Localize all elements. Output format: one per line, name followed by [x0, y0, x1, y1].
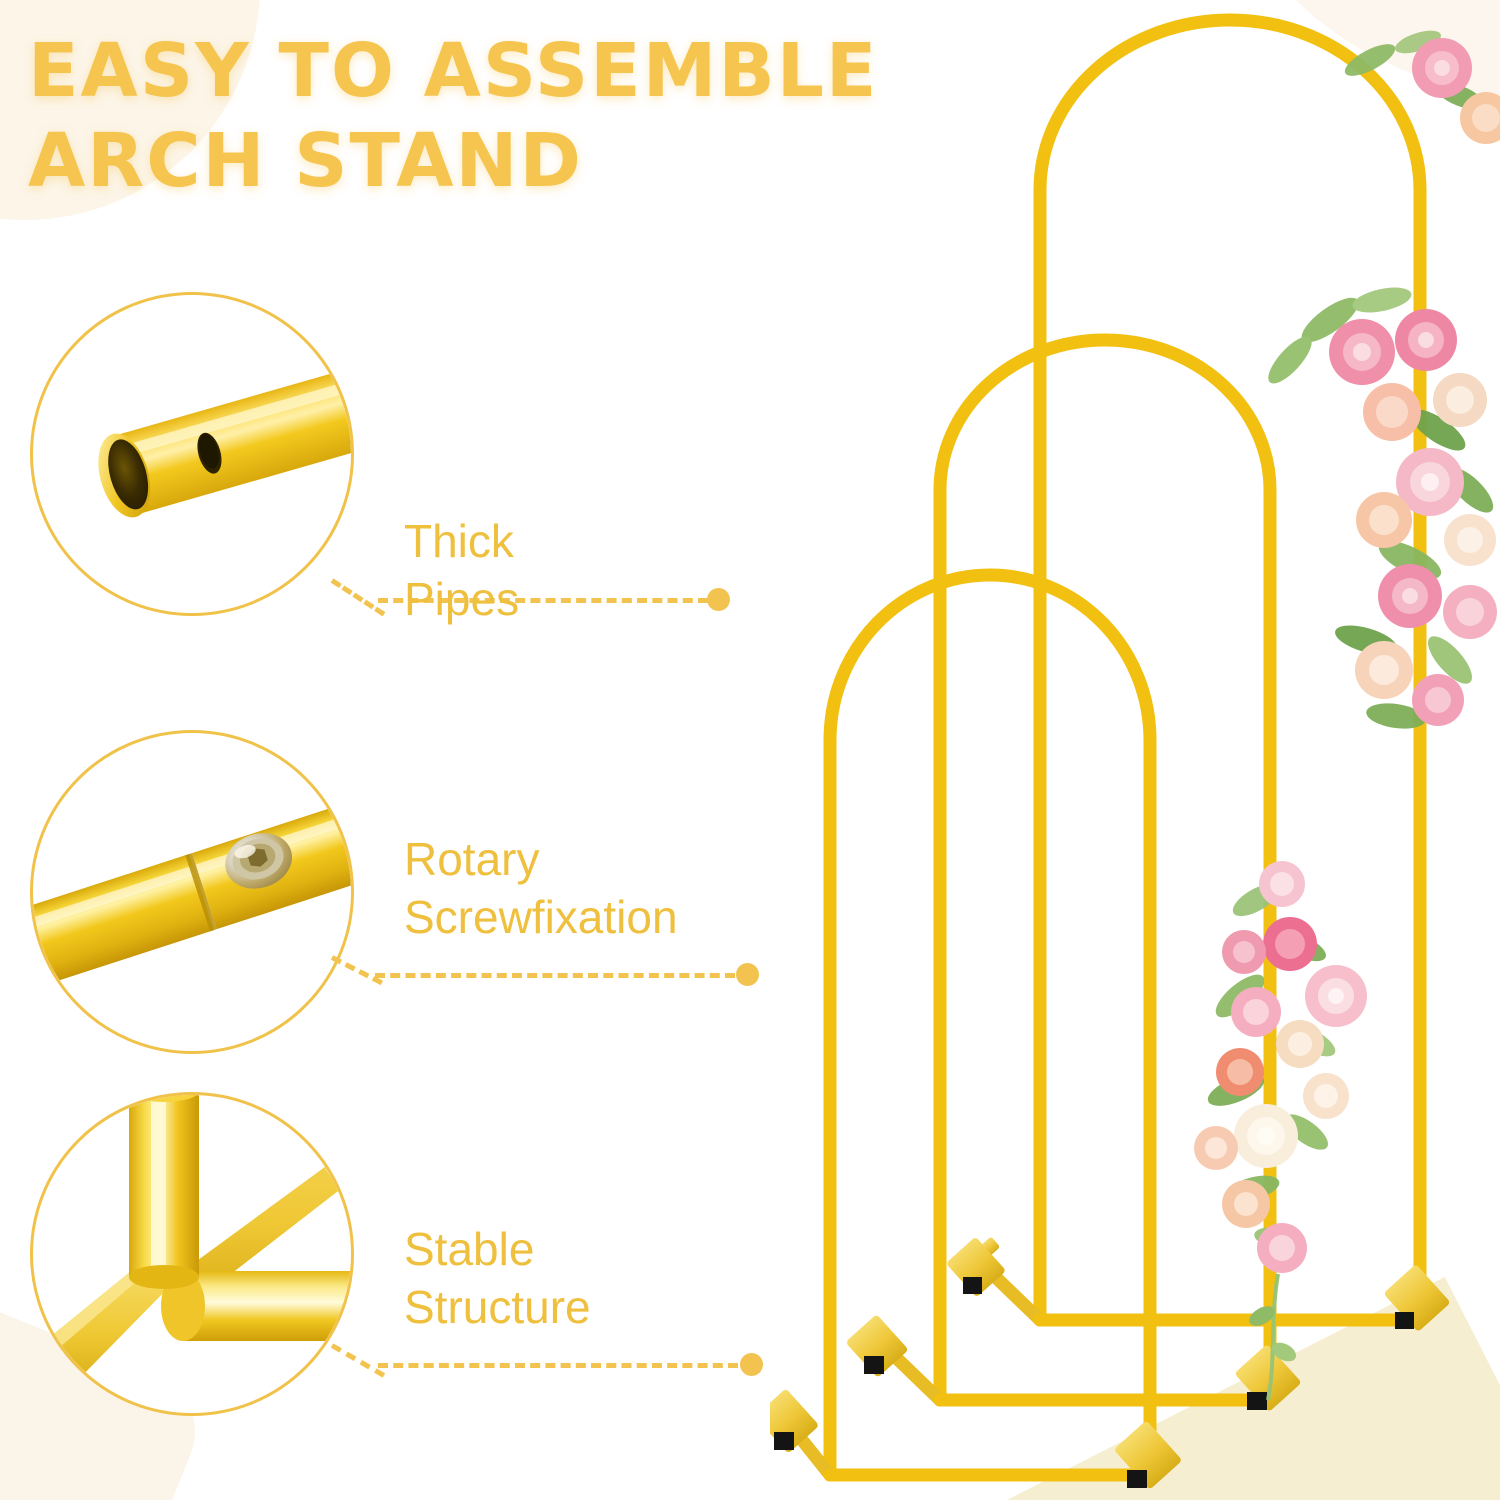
connector-dot-stable-structure — [740, 1353, 763, 1376]
connector-dot-thick-pipes — [707, 588, 730, 611]
product-illustration-arch-stands — [770, 0, 1500, 1500]
feature-label-stable-structure: Stable Structure — [404, 1220, 591, 1336]
infographic-canvas: EASY TO ASSEMBLE ARCH STAND — [0, 0, 1500, 1500]
feature-label-thick-pipes: Thick Pipes — [404, 512, 519, 628]
feature-photo-stable-structure — [30, 1092, 354, 1416]
feature-photo-thick-pipes — [30, 292, 354, 616]
connector-diagonal-rotary-screwfixation — [331, 955, 383, 985]
base-junction-photo — [33, 1095, 351, 1413]
joint-photo — [33, 733, 351, 1051]
connector-line-stable-structure — [378, 1363, 738, 1368]
connector-line-rotary-screwfixation — [375, 973, 735, 978]
pipe-photo — [33, 295, 351, 613]
feature-photo-rotary-screwfixation — [30, 730, 354, 1054]
base-junction-illustration — [33, 1095, 351, 1413]
arch-front — [770, 575, 1182, 1490]
arch-middle — [845, 340, 1301, 1412]
arch-stands-svg — [770, 0, 1500, 1500]
connector-dot-rotary-screwfixation — [736, 963, 759, 986]
floral-garland-upper — [1262, 26, 1500, 732]
pipe-joint-illustration — [33, 733, 351, 1051]
gold-pipe-illustration — [33, 295, 351, 613]
connector-diagonal-stable-structure — [331, 1343, 385, 1377]
feature-label-rotary-screwfixation: Rotary Screwfixation — [404, 830, 678, 946]
